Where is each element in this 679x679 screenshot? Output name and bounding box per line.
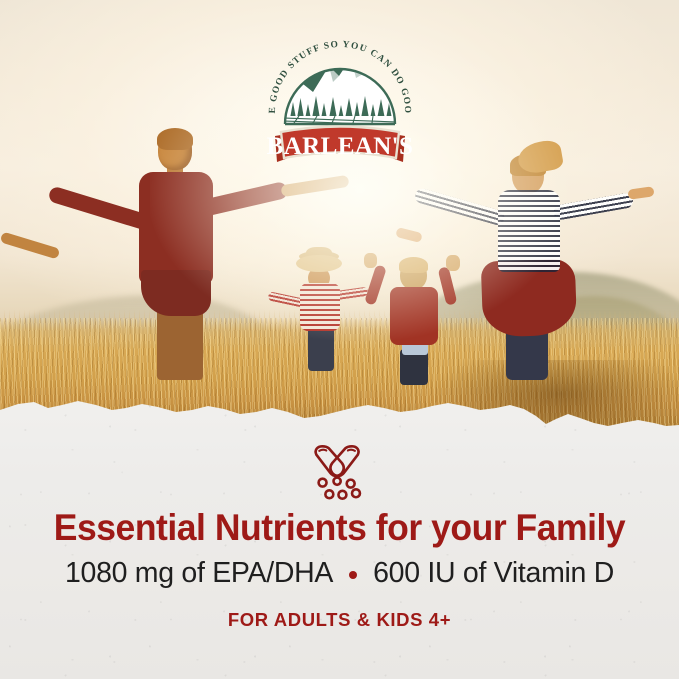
- man-hair: [157, 128, 193, 150]
- message-block: Essential Nutrients for your Family 1080…: [0, 430, 679, 631]
- softgel-capsules-icon: [309, 440, 371, 502]
- girl-legs: [308, 327, 334, 371]
- logo-brand-name: BARLEAN'S: [267, 133, 414, 160]
- person-woman: [440, 148, 640, 378]
- claim-epa-dha: 1080 mg of EPA/DHA: [65, 558, 333, 590]
- logo-ribbon: BARLEAN'S: [267, 127, 414, 163]
- woman-arm-right: [553, 192, 634, 221]
- girl-straw-hat: [296, 255, 342, 272]
- product-banner: WE MAKE GOOD STUFF SO YOU CAN DO GOOD ST…: [0, 0, 679, 679]
- boy-hand-left: [364, 253, 377, 268]
- woman-striped-shirt: [498, 190, 560, 272]
- page-title: Essential Nutrients for your Family: [14, 508, 666, 547]
- man-plaid-shirt: [139, 172, 213, 284]
- brand-logo: WE MAKE GOOD STUFF SO YOU CAN DO GOOD ST…: [259, 12, 421, 172]
- claims-row: 1080 mg of EPA/DHA 600 IU of Vitamin D: [0, 558, 679, 590]
- claim-vitamin-d: 600 IU of Vitamin D: [373, 558, 614, 590]
- bullet-separator-icon: [349, 571, 357, 579]
- audience-note: FOR ADULTS & KIDS 4+: [0, 609, 679, 631]
- boy-plaid-shirt: [390, 287, 438, 345]
- girl-striped-shirt: [300, 283, 340, 331]
- boy-hair: [399, 257, 428, 273]
- person-girl: [288, 255, 358, 370]
- person-man: [95, 130, 275, 380]
- man-shirt-tail: [141, 270, 211, 316]
